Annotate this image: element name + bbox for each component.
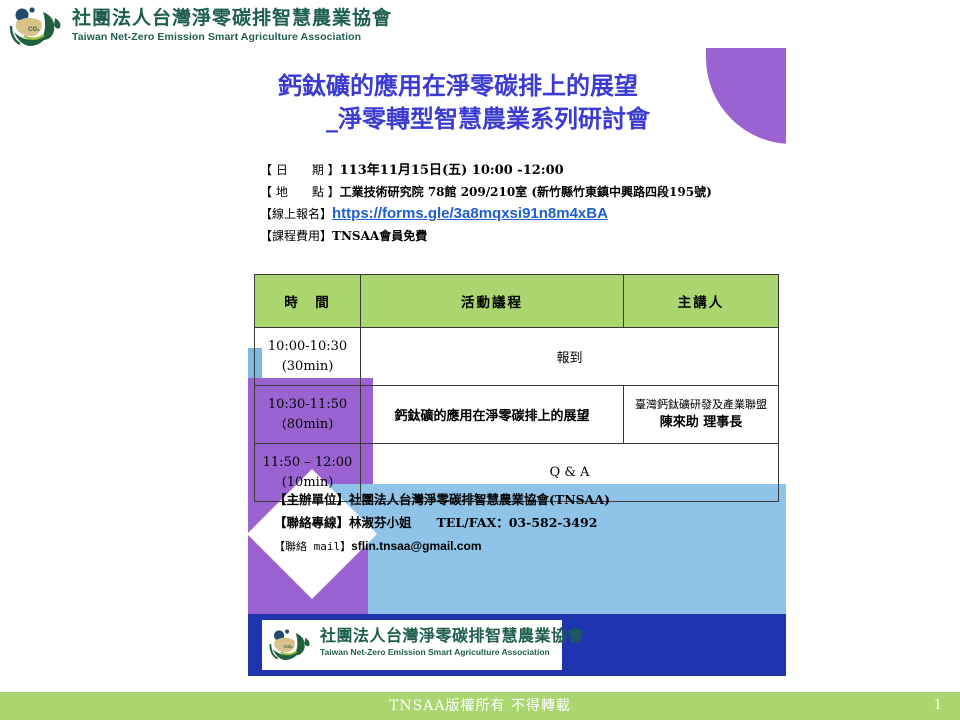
- agenda-time-range: 11:50 – 12:00: [263, 455, 353, 470]
- agenda-header-row: 時 間 活動議程 主講人: [255, 275, 779, 328]
- contact-key-organizer: 【主辦單位】: [274, 492, 349, 507]
- agenda-program-cell: 鈣鈦礦的應用在淨零碳排上的展望: [361, 386, 624, 444]
- agenda-table: 時 間 活動議程 主講人 10:00-10:30 (30min) 報到 10:3…: [254, 274, 779, 502]
- agenda-time-cell: 10:30-11:50 (80min): [255, 386, 361, 444]
- agenda-speaker-cell: 臺灣鈣鈦礦研發及產業聯盟 陳來助 理事長: [624, 386, 779, 444]
- contact-key-mail: 【聯絡 mail】: [274, 540, 351, 553]
- contact-row-organizer: 【主辦單位】社團法人台灣淨零碳排智慧農業協會(TNSAA): [274, 488, 774, 511]
- association-header: CO₂ 社團法人台灣淨零碳排智慧農業協會 Taiwan Net-Zero Emi…: [0, 0, 960, 52]
- tnsaa-leaf-co2-logo-icon: CO₂: [8, 6, 66, 48]
- agenda-time-cell: 10:00-10:30 (30min): [255, 328, 361, 386]
- info-row-signup: 【線上報名】https://forms.gle/3a8mqxsi91n8m4xB…: [260, 203, 780, 226]
- contact-row-mail: 【聯絡 mail】sflin.tnsaa@gmail.com: [274, 534, 774, 558]
- poster-title: 鈣鈦礦的應用在淨零碳排上的展望 _淨零轉型智慧農業系列研討會: [264, 70, 774, 136]
- agenda-time-duration: (30min): [282, 359, 334, 374]
- agenda-header-program: 活動議程: [361, 275, 624, 328]
- association-name-zh: 社團法人台灣淨零碳排智慧農業協會: [72, 6, 392, 30]
- contact-row-phone: 【聯絡專線】林淑芬小姐 TEL/FAX：03-582-3492: [274, 511, 774, 534]
- agenda-time-range: 10:00-10:30: [268, 339, 347, 354]
- agenda-header-time: 時 間: [255, 275, 361, 328]
- agenda-program-title: 鈣鈦礦的應用在淨零碳排上的展望: [394, 409, 589, 424]
- agenda-header-speaker: 主講人: [624, 275, 779, 328]
- agenda-time-duration: (80min): [282, 417, 334, 432]
- table-row: 10:00-10:30 (30min) 報到: [255, 328, 779, 386]
- poster-title-line-2: _淨零轉型智慧農業系列研討會: [264, 103, 774, 136]
- info-key-signup: 【線上報名】: [260, 207, 332, 221]
- info-row-date: 【 日 期 】113年11月15日(五) 10:00 -12:00: [260, 160, 780, 182]
- info-value-location: 工業技術研究院 78館 209/210室 (新竹縣竹東鎮中興路四段195號): [340, 185, 712, 199]
- svg-text:CO₂: CO₂: [28, 27, 40, 33]
- poster-content: 鈣鈦礦的應用在淨零碳排上的展望 _淨零轉型智慧農業系列研討會 【 日 期 】11…: [248, 48, 786, 676]
- info-row-fee: 【課程費用】TNSAA會員免費: [260, 226, 780, 248]
- contact-value-mail: sflin.tnsaa@gmail.com: [351, 539, 481, 553]
- agenda-speaker-org: 臺灣鈣鈦礦研發及產業聯盟: [626, 396, 776, 413]
- contact-value-organizer: 社團法人台灣淨零碳排智慧農業協會(TNSAA): [349, 492, 610, 507]
- info-value-fee: TNSAA會員免費: [332, 229, 427, 243]
- agenda-speaker-name: 陳來助 理事長: [626, 413, 776, 433]
- contact-value-phone: 林淑芬小姐 TEL/FAX：03-582-3492: [349, 515, 597, 530]
- slide-footer: TNSAA版權所有 不得轉載 1: [0, 692, 960, 720]
- info-key-fee: 【課程費用】: [260, 229, 332, 243]
- info-value-date: 113年11月15日(五) 10:00 -12:00: [340, 163, 564, 178]
- info-key-date: 【 日 期 】: [260, 163, 340, 177]
- association-header-text: 社團法人台灣淨零碳排智慧農業協會 Taiwan Net-Zero Emissio…: [72, 6, 392, 44]
- agenda-program-cell: 報到: [361, 328, 779, 386]
- footer-page-number: 1: [934, 692, 942, 720]
- footer-copyright: TNSAA版權所有 不得轉載: [0, 692, 960, 720]
- poster-info-block: 【 日 期 】113年11月15日(五) 10:00 -12:00 【 地 點 …: [260, 160, 780, 247]
- info-key-location: 【 地 點 】: [260, 185, 340, 199]
- info-row-location: 【 地 點 】工業技術研究院 78館 209/210室 (新竹縣竹東鎮中興路四段…: [260, 182, 780, 204]
- signup-link[interactable]: https://forms.gle/3a8mqxsi91n8m4xBA: [332, 205, 608, 222]
- table-row: 10:30-11:50 (80min) 鈣鈦礦的應用在淨零碳排上的展望 臺灣鈣鈦…: [255, 386, 779, 444]
- seminar-poster: CO₂ 社團法人台灣淨零碳排智慧農業協會 Taiwan Net-Zero Emi…: [248, 48, 786, 676]
- poster-title-line-1: 鈣鈦礦的應用在淨零碳排上的展望: [264, 70, 774, 103]
- agenda-time-range: 10:30-11:50: [268, 397, 347, 412]
- poster-contact-block: 【主辦單位】社團法人台灣淨零碳排智慧農業協會(TNSAA) 【聯絡專線】林淑芬小…: [274, 488, 774, 558]
- association-name-en: Taiwan Net-Zero Emission Smart Agricultu…: [72, 30, 392, 44]
- contact-key-phone: 【聯絡專線】: [274, 515, 349, 530]
